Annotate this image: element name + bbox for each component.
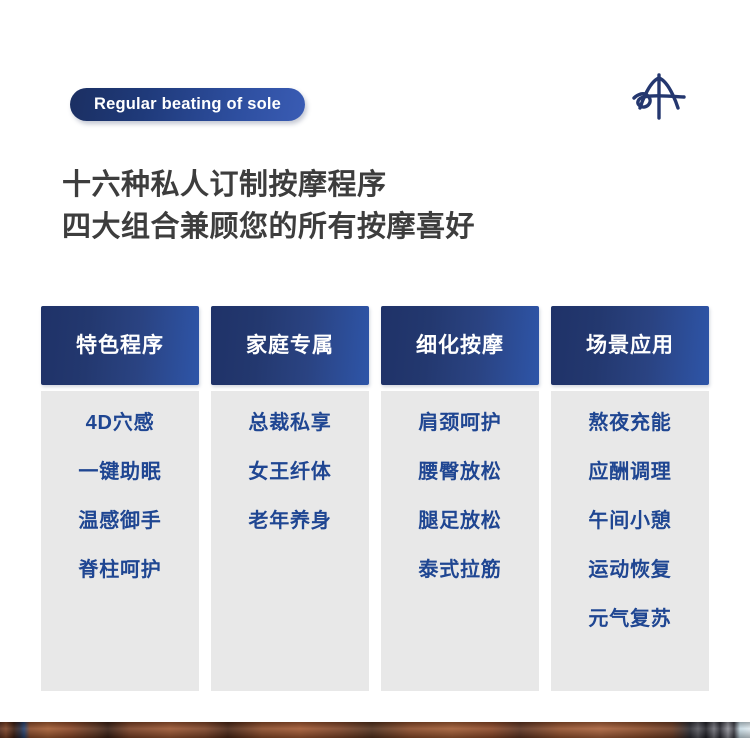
wood-grain-strip bbox=[0, 722, 750, 738]
program-column-1: 特色程序 4D穴感 一键助眠 温感御手 脊柱呵护 bbox=[41, 306, 199, 691]
list-item: 一键助眠 bbox=[78, 462, 161, 482]
program-column-1-header: 特色程序 bbox=[41, 306, 199, 385]
program-category-columns: 特色程序 4D穴感 一键助眠 温感御手 脊柱呵护 家庭专属 总裁私享 女王纤体 … bbox=[41, 306, 709, 691]
page-title: 十六种私人订制按摩程序 四大组合兼顾您的所有按摩喜好 bbox=[62, 164, 682, 248]
list-item: 4D穴感 bbox=[86, 413, 155, 433]
list-item: 应酬调理 bbox=[588, 462, 671, 482]
program-column-1-header-label: 特色程序 bbox=[76, 335, 164, 356]
wood-grain-strip-shading bbox=[0, 722, 750, 738]
list-item: 元气复苏 bbox=[588, 609, 671, 629]
list-item: 老年养身 bbox=[248, 511, 331, 531]
brand-a-monogram-icon bbox=[628, 72, 690, 124]
list-item: 腿足放松 bbox=[418, 511, 501, 531]
page-title-line-1: 十六种私人订制按摩程序 bbox=[62, 164, 682, 206]
list-item: 女王纤体 bbox=[248, 462, 331, 482]
program-column-3-header-label: 细化按摩 bbox=[416, 335, 504, 356]
program-column-4-header-label: 场景应用 bbox=[586, 335, 674, 356]
page-title-line-2: 四大组合兼顾您的所有按摩喜好 bbox=[62, 206, 682, 248]
program-column-4: 场景应用 熬夜充能 应酬调理 午间小憩 运动恢复 元气复苏 bbox=[551, 306, 709, 691]
program-column-2-header: 家庭专属 bbox=[211, 306, 369, 385]
program-column-1-body: 4D穴感 一键助眠 温感御手 脊柱呵护 bbox=[41, 391, 199, 691]
section-badge: Regular beating of sole bbox=[70, 88, 305, 121]
section-badge-label: Regular beating of sole bbox=[94, 96, 281, 113]
program-column-3: 细化按摩 肩颈呵护 腰臀放松 腿足放松 泰式拉筋 bbox=[381, 306, 539, 691]
list-item: 运动恢复 bbox=[588, 560, 671, 580]
list-item: 脊柱呵护 bbox=[78, 560, 161, 580]
program-column-4-header: 场景应用 bbox=[551, 306, 709, 385]
program-column-2-header-label: 家庭专属 bbox=[246, 335, 334, 356]
list-item: 肩颈呵护 bbox=[418, 413, 501, 433]
list-item: 温感御手 bbox=[78, 511, 161, 531]
program-column-3-body: 肩颈呵护 腰臀放松 腿足放松 泰式拉筋 bbox=[381, 391, 539, 691]
list-item: 午间小憩 bbox=[588, 511, 671, 531]
program-column-2: 家庭专属 总裁私享 女王纤体 老年养身 bbox=[211, 306, 369, 691]
list-item: 总裁私享 bbox=[248, 413, 331, 433]
program-column-4-body: 熬夜充能 应酬调理 午间小憩 运动恢复 元气复苏 bbox=[551, 391, 709, 691]
list-item: 熬夜充能 bbox=[588, 413, 671, 433]
program-column-2-body: 总裁私享 女王纤体 老年养身 bbox=[211, 391, 369, 691]
promo-page: Regular beating of sole 十六种私人订制按摩程序 四大组合… bbox=[0, 0, 750, 738]
program-column-3-header: 细化按摩 bbox=[381, 306, 539, 385]
list-item: 腰臀放松 bbox=[418, 462, 501, 482]
list-item: 泰式拉筋 bbox=[418, 560, 501, 580]
